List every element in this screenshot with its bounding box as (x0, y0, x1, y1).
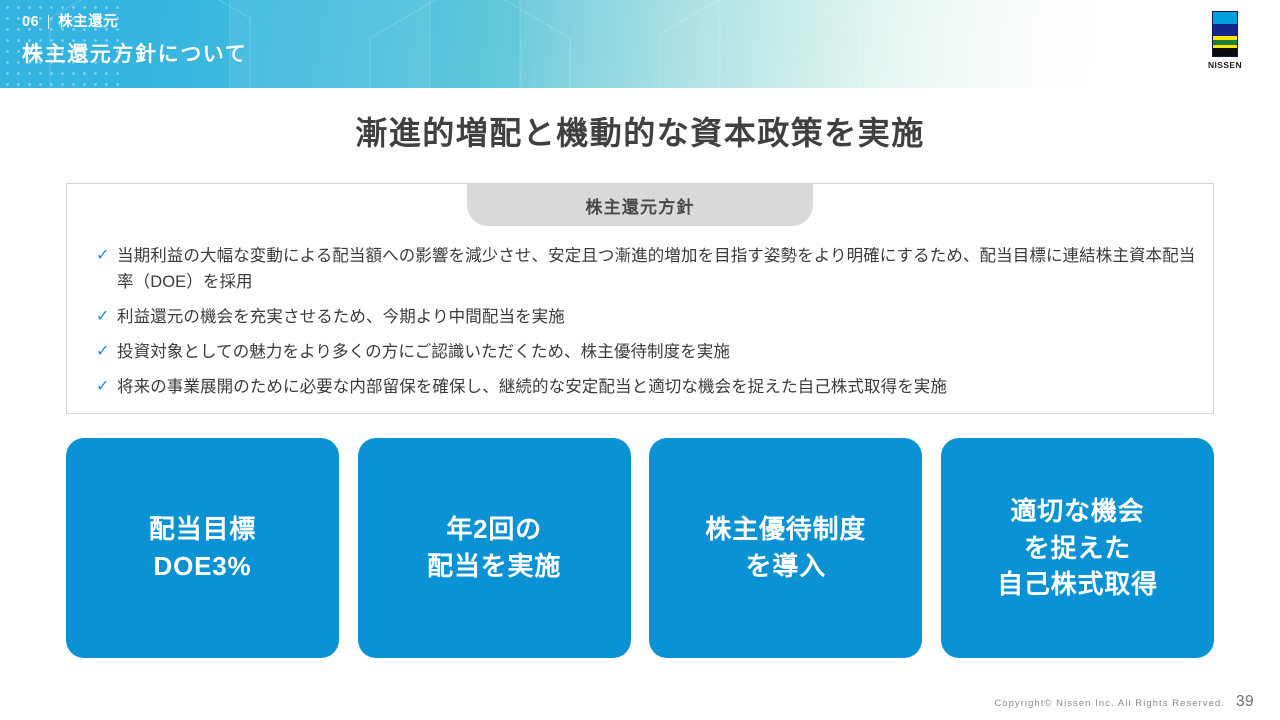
highlight-card-share-buyback: 適切な機会 を捉えた 自己株式取得 (941, 438, 1214, 658)
highlight-card-dividend-target: 配当目標 DOE3% (66, 438, 339, 658)
slide-header: 06 株主還元 株主還元方針について NISSEN (0, 0, 1280, 88)
page-title: 漸進的増配と機動的な資本政策を実施 (0, 113, 1280, 153)
policy-panel: 株主還元方針 ✓ 当期利益の大幅な変動による配当額への影響を減少させ、安定且つ漸… (66, 183, 1214, 414)
list-item-text: 投資対象としての魅力をより多くの方にご認識いただくため、株主優待制度を実施 (117, 339, 1199, 365)
list-item-text: 当期利益の大幅な変動による配当額への影響を減少させ、安定且つ漸進的増加を目指す姿… (117, 243, 1199, 295)
highlight-card-shareholder-benefit: 株主優待制度 を導入 (649, 438, 922, 658)
copyright-text: Copyright© Nissen Inc. All Rights Reserv… (994, 698, 1225, 709)
logo-bar-navy (1213, 24, 1237, 37)
logo-bar-black (1213, 48, 1237, 56)
check-icon: ✓ (96, 243, 117, 269)
list-item-text: 利益還元の機会を充実させるため、今期より中間配当を実施 (117, 304, 1199, 330)
list-item: ✓ 当期利益の大幅な変動による配当額への影響を減少させ、安定且つ漸進的増加を目指… (96, 243, 1199, 295)
header-eyebrow: 06 株主還元 (22, 15, 118, 30)
logo-mark-icon (1212, 11, 1238, 57)
check-icon: ✓ (96, 374, 117, 400)
section-label: 株主還元 (58, 15, 118, 30)
highlight-card-row: 配当目標 DOE3% 年2回の 配当を実施 株主優待制度 を導入 適切な機会 を… (66, 438, 1214, 658)
list-item: ✓ 投資対象としての魅力をより多くの方にご認識いただくため、株主優待制度を実施 (96, 339, 1199, 365)
slide-footer: Copyright© Nissen Inc. All Rights Reserv… (994, 693, 1254, 711)
logo-wordmark: NISSEN (1202, 60, 1248, 70)
list-item: ✓ 利益還元の機会を充実させるため、今期より中間配当を実施 (96, 304, 1199, 330)
policy-pill-label: 株主還元方針 (467, 184, 813, 226)
nissen-logo: NISSEN (1202, 11, 1248, 70)
check-icon: ✓ (96, 304, 117, 330)
logo-bar-cyan (1213, 12, 1237, 24)
section-number: 06 (22, 15, 39, 30)
eyebrow-divider (48, 15, 49, 29)
list-item: ✓ 将来の事業展開のために必要な内部留保を確保し、継続的な安定配当と適切な機会を… (96, 374, 1199, 400)
list-item-text: 将来の事業展開のために必要な内部留保を確保し、継続的な安定配当と適切な機会を捉え… (117, 374, 1199, 400)
page-number: 39 (1236, 693, 1254, 711)
highlight-card-twice-yearly: 年2回の 配当を実施 (358, 438, 631, 658)
slide-header-title: 株主還元方針について (22, 42, 247, 67)
policy-bullet-list: ✓ 当期利益の大幅な変動による配当額への影響を減少させ、安定且つ漸進的増加を目指… (96, 243, 1199, 409)
check-icon: ✓ (96, 339, 117, 365)
